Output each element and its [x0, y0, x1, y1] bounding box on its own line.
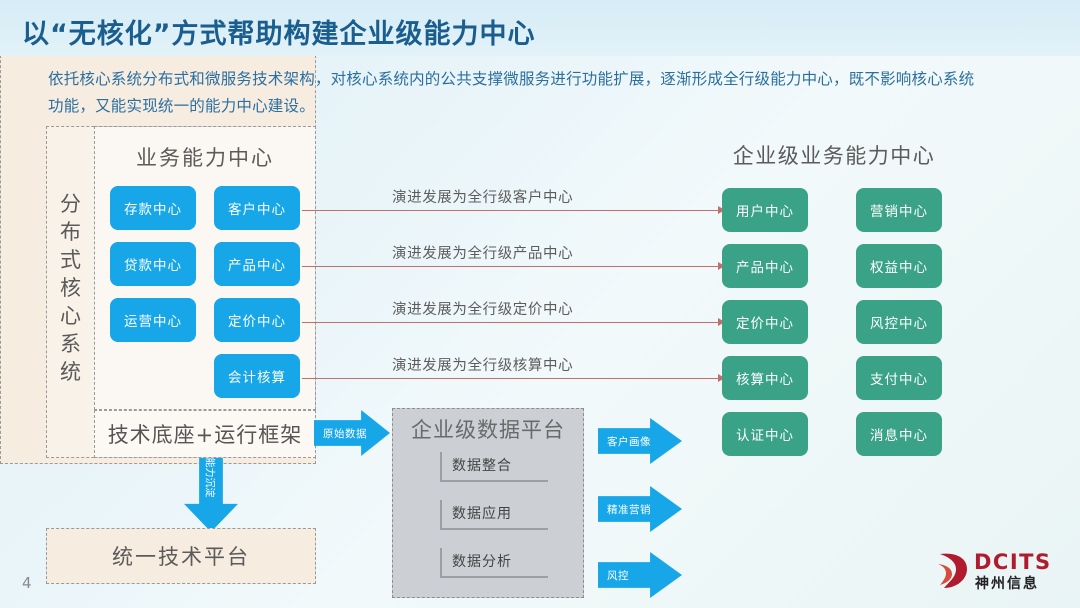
data-platform-title: 企业级数据平台 — [392, 414, 584, 444]
data-platform-item-label: 数据整合 — [452, 455, 512, 475]
dcits-logo-icon — [936, 550, 970, 590]
ent-box-risk[interactable]: 风控中心 — [856, 300, 942, 344]
connector-line-accounting — [302, 378, 720, 379]
enterprise-capability-title: 企业级业务能力中心 — [676, 140, 992, 170]
biz-box-accounting[interactable]: 会计核算 — [214, 354, 300, 398]
business-capability-title: 业务能力中心 — [94, 142, 316, 172]
logo-cn-text: 神州信息 — [975, 573, 1039, 593]
connector-label-pricing: 演进发展为全行级定价中心 — [392, 298, 573, 319]
arrow-precision-marketing: 精准营销 — [598, 486, 682, 532]
biz-box-customer[interactable]: 客户中心 — [214, 186, 300, 230]
logo: DCITS 神州信息 — [936, 548, 1068, 596]
logo-en-text: DCITS — [974, 550, 1052, 574]
arrow-capability-precipitation-label: 能力沉淀 — [204, 458, 219, 498]
tech-base-box: 技术底座+运行框架 — [94, 410, 316, 458]
arrow-precision-marketing-label: 精准营销 — [598, 502, 651, 517]
arrow-raw-data-label: 原始数据 — [314, 426, 367, 441]
connector-label-accounting: 演进发展为全行级核算中心 — [392, 354, 573, 375]
arrow-capability-precipitation: 能力沉淀 — [184, 458, 238, 532]
unified-tech-platform-box: 统一技术平台 — [46, 528, 316, 584]
ent-box-rights[interactable]: 权益中心 — [856, 244, 942, 288]
biz-box-operation[interactable]: 运营中心 — [110, 298, 196, 342]
ent-box-accounting[interactable]: 核算中心 — [722, 356, 808, 400]
connector-line-product — [302, 266, 720, 267]
connector-line-pricing — [302, 322, 720, 323]
tech-base-label: 技术底座+运行框架 — [108, 419, 303, 449]
arrow-customer-profile-label: 客户画像 — [598, 434, 651, 449]
ent-box-payment[interactable]: 支付中心 — [856, 356, 942, 400]
ent-box-pricing[interactable]: 定价中心 — [722, 300, 808, 344]
connector-label-customer: 演进发展为全行级客户中心 — [392, 186, 573, 207]
biz-box-deposit[interactable]: 存款中心 — [110, 186, 196, 230]
biz-box-pricing[interactable]: 定价中心 — [214, 298, 300, 342]
ent-box-user[interactable]: 用户中心 — [722, 188, 808, 232]
ent-box-product[interactable]: 产品中心 — [722, 244, 808, 288]
arrow-raw-data: 原始数据 — [314, 410, 390, 456]
ent-box-auth[interactable]: 认证中心 — [722, 412, 808, 456]
connector-label-product: 演进发展为全行级产品中心 — [392, 242, 573, 263]
unified-tech-platform-label: 统一技术平台 — [112, 541, 250, 571]
arrow-risk-control: 风控 — [598, 552, 682, 598]
arrow-risk-control-label: 风控 — [598, 568, 629, 583]
biz-box-loan[interactable]: 贷款中心 — [110, 242, 196, 286]
data-platform-item-application[interactable]: 数据应用 — [440, 500, 548, 530]
page-number: 4 — [22, 574, 32, 592]
data-platform-item-label: 数据分析 — [452, 551, 512, 571]
arrow-customer-profile: 客户画像 — [598, 418, 682, 464]
page-title: 以“无核化”方式帮助构建企业级能力中心 — [22, 12, 536, 51]
data-platform-item-analysis[interactable]: 数据分析 — [440, 548, 548, 578]
page-subtitle: 依托核心系统分布式和微服务技术架构，对核心系统内的公共支撑微服务进行功能扩展，逐… — [48, 66, 988, 120]
data-platform-item-label: 数据应用 — [452, 503, 512, 523]
ent-box-message[interactable]: 消息中心 — [856, 412, 942, 456]
connector-line-customer — [302, 210, 720, 211]
distributed-core-label: 分布式核心系统 — [50, 190, 92, 386]
biz-box-product[interactable]: 产品中心 — [214, 242, 300, 286]
data-platform-item-integration[interactable]: 数据整合 — [440, 452, 548, 482]
ent-box-marketing[interactable]: 营销中心 — [856, 188, 942, 232]
